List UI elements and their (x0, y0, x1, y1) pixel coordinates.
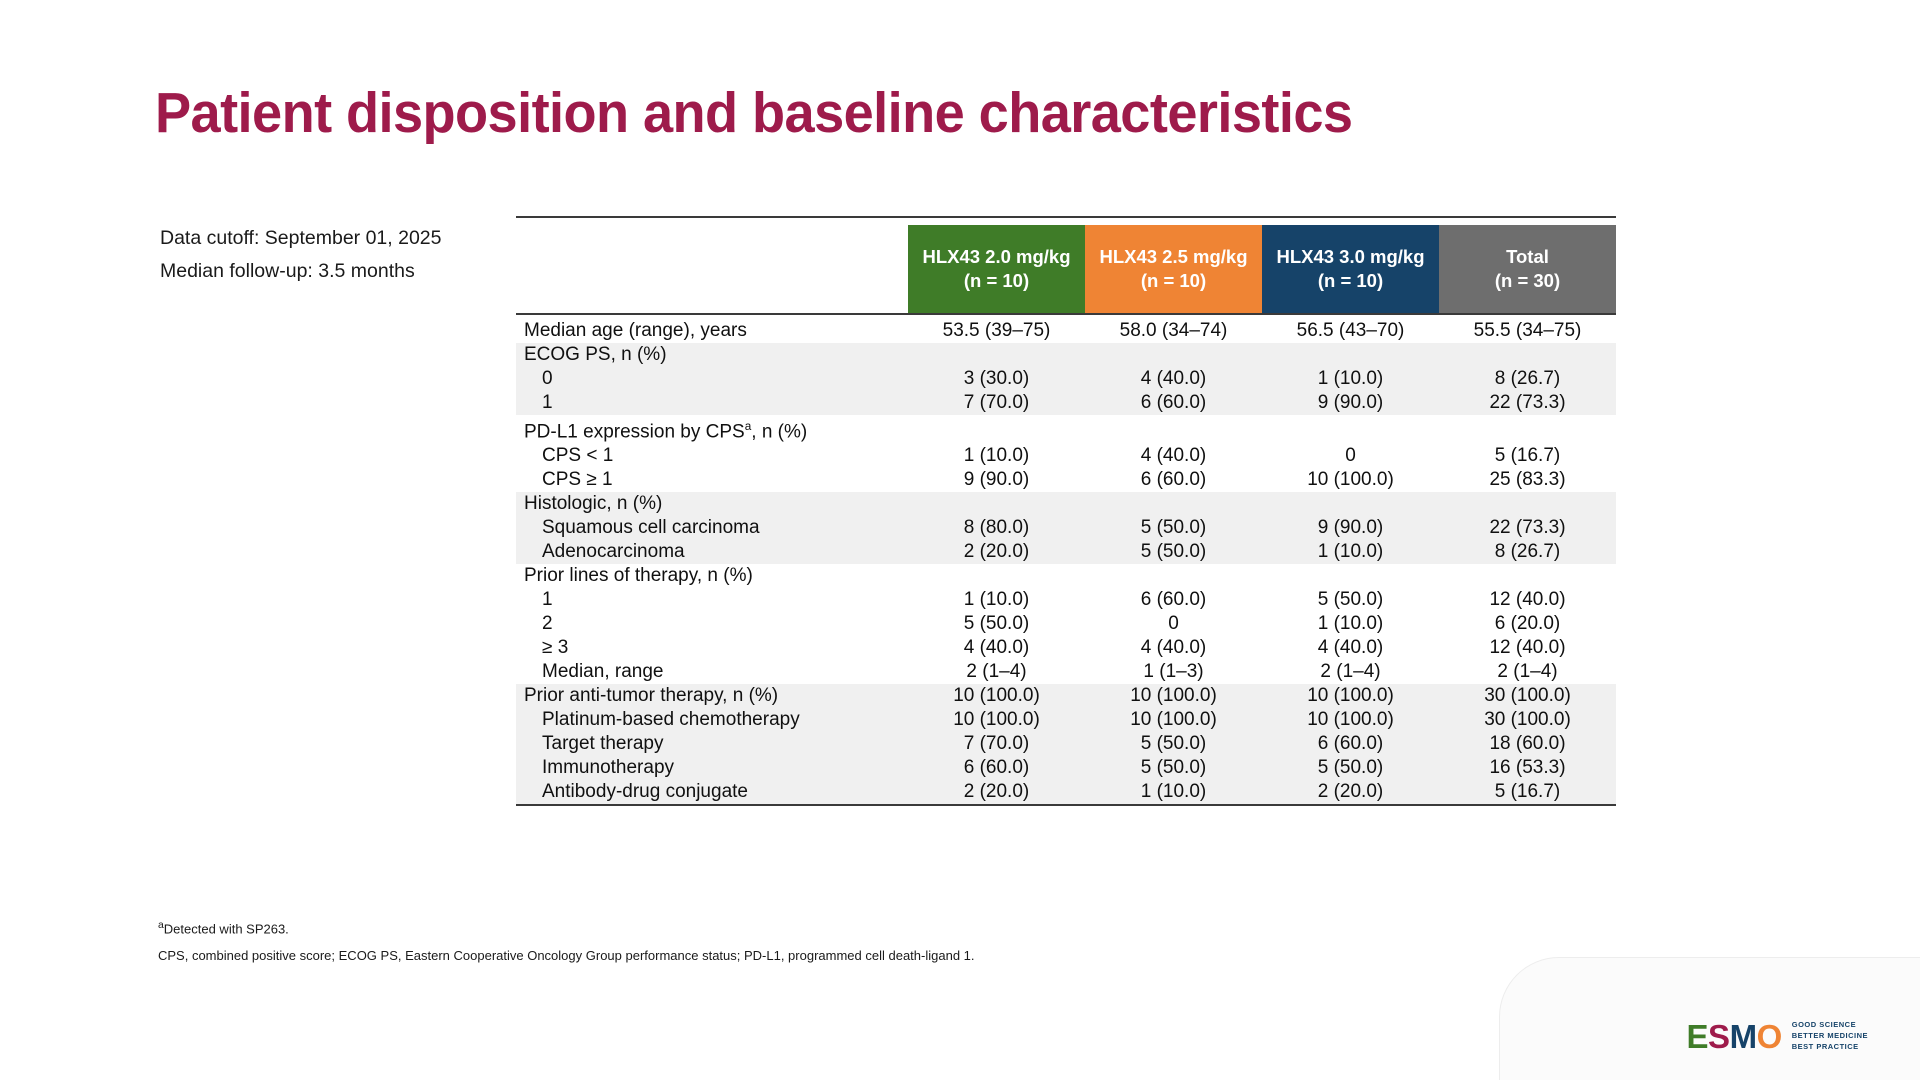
table-bottom-rule (516, 805, 1616, 810)
table-data-rows: Median age (range), years53.5 (39–75)58.… (516, 319, 1616, 805)
row-value-col3: 2 (20.0) (1262, 780, 1439, 805)
table-row: ≥ 34 (40.0)4 (40.0)4 (40.0)12 (40.0) (516, 636, 1616, 660)
row-value-col1: 6 (60.0) (908, 756, 1085, 780)
row-value-col1: 53.5 (39–75) (908, 319, 1085, 343)
row-value-col2: 4 (40.0) (1085, 636, 1262, 660)
row-label: Adenocarcinoma (516, 540, 908, 564)
row-label: ≥ 3 (516, 636, 908, 660)
page-title: Patient disposition and baseline charact… (155, 80, 1352, 146)
row-label: 0 (516, 367, 908, 391)
row-value-col1: 5 (50.0) (908, 612, 1085, 636)
row-value-col2: 5 (50.0) (1085, 732, 1262, 756)
row-value-col1: 1 (10.0) (908, 444, 1085, 468)
row-value-col1: 10 (100.0) (908, 684, 1085, 708)
row-value-col3 (1262, 415, 1439, 444)
row-value-col4: 12 (40.0) (1439, 636, 1616, 660)
row-value-col1: 10 (100.0) (908, 708, 1085, 732)
row-label: Prior anti-tumor therapy, n (%) (516, 684, 908, 708)
row-value-col4 (1439, 415, 1616, 444)
esmo-letter-m: M (1730, 1020, 1757, 1054)
table-row: Prior lines of therapy, n (%) (516, 564, 1616, 588)
column-header-n: (n = 10) (1268, 269, 1433, 293)
row-value-col1 (908, 492, 1085, 516)
tagline-line-1: GOOD SCIENCE (1792, 1019, 1868, 1030)
tagline-line-2: BETTER MEDICINE (1792, 1030, 1868, 1041)
row-value-col3: 10 (100.0) (1262, 468, 1439, 492)
row-value-col2: 6 (60.0) (1085, 391, 1262, 415)
column-header-n: (n = 10) (914, 269, 1079, 293)
row-value-col1: 7 (70.0) (908, 732, 1085, 756)
column-header-2: HLX43 2.5 mg/kg(n = 10) (1085, 225, 1262, 314)
row-value-col4: 16 (53.3) (1439, 756, 1616, 780)
abbreviations-text: CPS, combined positive score; ECOG PS, E… (158, 942, 975, 969)
table-row: 11 (10.0)6 (60.0)5 (50.0)12 (40.0) (516, 588, 1616, 612)
data-cutoff-text: Data cutoff: September 01, 2025 (160, 222, 442, 255)
median-followup-text: Median follow-up: 3.5 months (160, 255, 442, 288)
row-value-col2: 5 (50.0) (1085, 540, 1262, 564)
column-header-n: (n = 10) (1091, 269, 1256, 293)
footnote-a: aDetected with SP263. (158, 912, 975, 942)
row-value-col4 (1439, 492, 1616, 516)
row-value-col3: 5 (50.0) (1262, 756, 1439, 780)
column-header-1: HLX43 2.0 mg/kg(n = 10) (908, 225, 1085, 314)
esmo-letter-o: O (1757, 1020, 1782, 1054)
column-header-label: HLX43 3.0 mg/kg (1276, 246, 1424, 267)
row-value-col4: 30 (100.0) (1439, 684, 1616, 708)
row-value-col1: 2 (1–4) (908, 660, 1085, 684)
table-row: Prior anti-tumor therapy, n (%)10 (100.0… (516, 684, 1616, 708)
table-row: PD-L1 expression by CPSa, n (%) (516, 415, 1616, 444)
row-value-col4: 2 (1–4) (1439, 660, 1616, 684)
table-row: Immunotherapy6 (60.0)5 (50.0)5 (50.0)16 … (516, 756, 1616, 780)
row-value-col3 (1262, 343, 1439, 367)
row-value-col1: 2 (20.0) (908, 780, 1085, 805)
row-value-col3: 5 (50.0) (1262, 588, 1439, 612)
row-value-col2: 5 (50.0) (1085, 516, 1262, 540)
row-value-col2: 58.0 (34–74) (1085, 319, 1262, 343)
row-value-col3: 6 (60.0) (1262, 732, 1439, 756)
study-meta-block: Data cutoff: September 01, 2025 Median f… (160, 222, 442, 288)
row-value-col2: 1 (10.0) (1085, 780, 1262, 805)
row-value-col3: 1 (10.0) (1262, 540, 1439, 564)
table-row: Adenocarcinoma2 (20.0)5 (50.0)1 (10.0)8 … (516, 540, 1616, 564)
esmo-logo: ESMO GOOD SCIENCE BETTER MEDICINE BEST P… (1687, 1019, 1868, 1054)
row-label: Platinum-based chemotherapy (516, 708, 908, 732)
row-value-col4: 5 (16.7) (1439, 444, 1616, 468)
table-row: ECOG PS, n (%) (516, 343, 1616, 367)
row-value-col4: 22 (73.3) (1439, 516, 1616, 540)
footnotes-block: aDetected with SP263. CPS, combined posi… (158, 912, 975, 969)
row-value-col4: 8 (26.7) (1439, 540, 1616, 564)
row-value-col4: 12 (40.0) (1439, 588, 1616, 612)
column-header-label: HLX43 2.0 mg/kg (922, 246, 1070, 267)
row-value-col3 (1262, 492, 1439, 516)
table-body: HLX43 2.0 mg/kg(n = 10)HLX43 2.5 mg/kg(n… (516, 217, 1616, 319)
table-row: Antibody-drug conjugate2 (20.0)1 (10.0)2… (516, 780, 1616, 805)
row-label: 1 (516, 391, 908, 415)
row-label: Median, range (516, 660, 908, 684)
table-row: 17 (70.0)6 (60.0)9 (90.0)22 (73.3) (516, 391, 1616, 415)
row-value-col3: 56.5 (43–70) (1262, 319, 1439, 343)
esmo-tagline: GOOD SCIENCE BETTER MEDICINE BEST PRACTI… (1792, 1019, 1868, 1054)
footnote-a-text: Detected with SP263. (164, 921, 289, 936)
row-value-col3: 1 (10.0) (1262, 612, 1439, 636)
row-value-col4: 30 (100.0) (1439, 708, 1616, 732)
row-value-col4: 18 (60.0) (1439, 732, 1616, 756)
column-header-3: HLX43 3.0 mg/kg(n = 10) (1262, 225, 1439, 314)
row-value-col3 (1262, 564, 1439, 588)
table-top-rule (516, 217, 1616, 225)
row-value-col3: 10 (100.0) (1262, 708, 1439, 732)
row-value-col1 (908, 343, 1085, 367)
table-row: Target therapy7 (70.0)5 (50.0)6 (60.0)18… (516, 732, 1616, 756)
row-value-col1 (908, 415, 1085, 444)
table-row: Squamous cell carcinoma8 (80.0)5 (50.0)9… (516, 516, 1616, 540)
row-value-col1 (908, 564, 1085, 588)
row-value-col1: 9 (90.0) (908, 468, 1085, 492)
row-value-col2 (1085, 492, 1262, 516)
row-value-col2: 6 (60.0) (1085, 468, 1262, 492)
row-value-col1: 2 (20.0) (908, 540, 1085, 564)
row-value-col3: 10 (100.0) (1262, 684, 1439, 708)
row-label: Median age (range), years (516, 319, 908, 343)
row-label: Histologic, n (%) (516, 492, 908, 516)
row-value-col4: 5 (16.7) (1439, 780, 1616, 805)
row-label: Squamous cell carcinoma (516, 516, 908, 540)
row-value-col4 (1439, 343, 1616, 367)
row-label: 1 (516, 588, 908, 612)
row-value-col2: 6 (60.0) (1085, 588, 1262, 612)
row-value-col2 (1085, 415, 1262, 444)
row-value-col2: 10 (100.0) (1085, 684, 1262, 708)
row-label: 2 (516, 612, 908, 636)
row-value-col1: 8 (80.0) (908, 516, 1085, 540)
column-header-n: (n = 30) (1445, 269, 1610, 293)
row-value-col4: 22 (73.3) (1439, 391, 1616, 415)
row-value-col2 (1085, 343, 1262, 367)
table-header-corner (516, 225, 908, 314)
row-label: Immunotherapy (516, 756, 908, 780)
row-value-col4: 8 (26.7) (1439, 367, 1616, 391)
row-value-col2: 10 (100.0) (1085, 708, 1262, 732)
table-header-row: HLX43 2.0 mg/kg(n = 10)HLX43 2.5 mg/kg(n… (516, 225, 1616, 314)
row-value-col4 (1439, 564, 1616, 588)
tagline-line-3: BEST PRACTICE (1792, 1041, 1868, 1052)
table-row: Platinum-based chemotherapy10 (100.0)10 … (516, 708, 1616, 732)
baseline-characteristics-table-wrapper: HLX43 2.0 mg/kg(n = 10)HLX43 2.5 mg/kg(n… (516, 216, 1616, 810)
row-value-col4: 6 (20.0) (1439, 612, 1616, 636)
row-label: Antibody-drug conjugate (516, 780, 908, 805)
row-value-col2: 0 (1085, 612, 1262, 636)
table-footer (516, 805, 1616, 810)
column-header-4: Total(n = 30) (1439, 225, 1616, 314)
row-value-col1: 3 (30.0) (908, 367, 1085, 391)
row-label: PD-L1 expression by CPSa, n (%) (516, 415, 908, 444)
row-label: CPS ≥ 1 (516, 468, 908, 492)
row-value-col4: 25 (83.3) (1439, 468, 1616, 492)
row-value-col1: 7 (70.0) (908, 391, 1085, 415)
esmo-letter-e: E (1687, 1020, 1709, 1054)
table-row: 03 (30.0)4 (40.0)1 (10.0)8 (26.7) (516, 367, 1616, 391)
row-value-col2: 4 (40.0) (1085, 367, 1262, 391)
table-row: CPS ≥ 19 (90.0)6 (60.0)10 (100.0)25 (83.… (516, 468, 1616, 492)
row-value-col3: 9 (90.0) (1262, 391, 1439, 415)
column-header-label: HLX43 2.5 mg/kg (1099, 246, 1247, 267)
row-value-col3: 0 (1262, 444, 1439, 468)
esmo-letter-s: S (1708, 1020, 1730, 1054)
slide-canvas: Patient disposition and baseline charact… (0, 0, 1920, 1080)
table-row: Histologic, n (%) (516, 492, 1616, 516)
row-value-col3: 1 (10.0) (1262, 367, 1439, 391)
row-value-col2: 4 (40.0) (1085, 444, 1262, 468)
row-value-col3: 9 (90.0) (1262, 516, 1439, 540)
row-value-col2: 5 (50.0) (1085, 756, 1262, 780)
table-row: 25 (50.0)01 (10.0)6 (20.0) (516, 612, 1616, 636)
table-row: CPS < 11 (10.0)4 (40.0)05 (16.7) (516, 444, 1616, 468)
row-value-col3: 2 (1–4) (1262, 660, 1439, 684)
table-row: Median age (range), years53.5 (39–75)58.… (516, 319, 1616, 343)
column-header-label: Total (1506, 246, 1549, 267)
row-value-col2 (1085, 564, 1262, 588)
row-label: Target therapy (516, 732, 908, 756)
row-label: Prior lines of therapy, n (%) (516, 564, 908, 588)
row-label: CPS < 1 (516, 444, 908, 468)
row-value-col2: 1 (1–3) (1085, 660, 1262, 684)
baseline-characteristics-table: HLX43 2.0 mg/kg(n = 10)HLX43 2.5 mg/kg(n… (516, 216, 1616, 810)
esmo-wordmark: ESMO (1687, 1020, 1782, 1054)
row-value-col3: 4 (40.0) (1262, 636, 1439, 660)
row-value-col1: 1 (10.0) (908, 588, 1085, 612)
row-label: ECOG PS, n (%) (516, 343, 908, 367)
row-value-col1: 4 (40.0) (908, 636, 1085, 660)
row-value-col4: 55.5 (34–75) (1439, 319, 1616, 343)
table-row: Median, range2 (1–4)1 (1–3)2 (1–4)2 (1–4… (516, 660, 1616, 684)
